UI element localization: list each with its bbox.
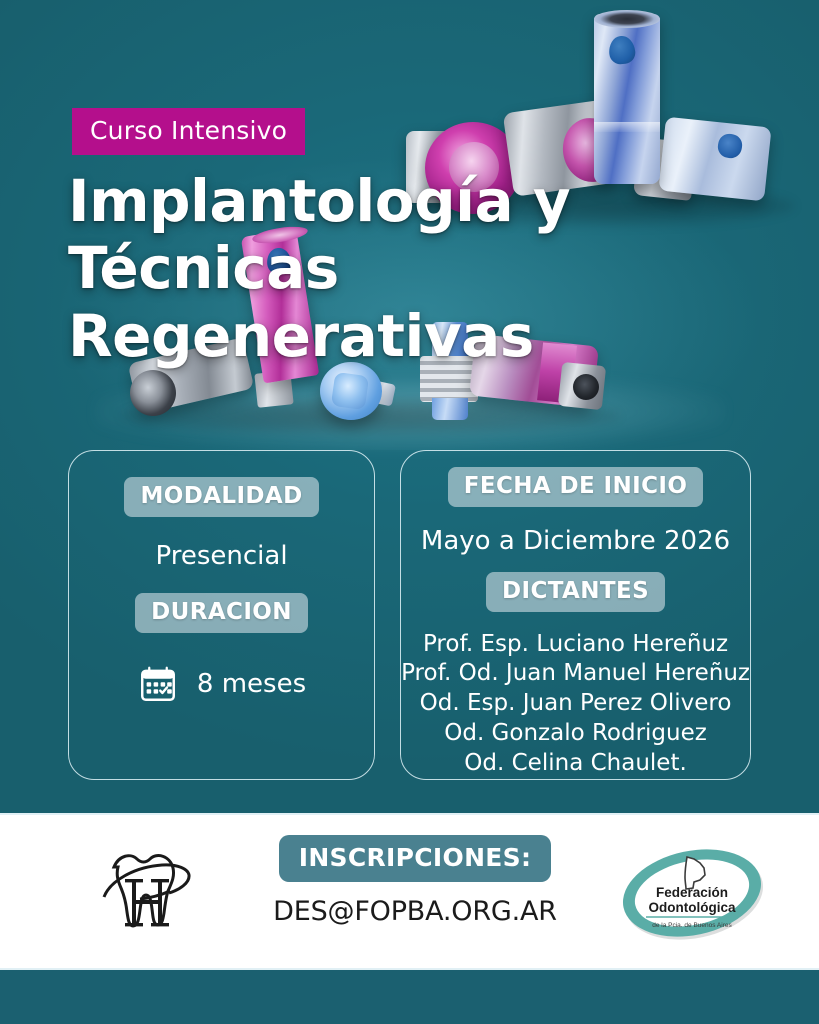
fopba-logo: Federación Odontológica de la Pcia. de B… (608, 845, 780, 943)
speaker-item: Od. Esp. Juan Perez Olivero (401, 689, 750, 719)
info-cards: MODALIDAD Presencial DURACION (68, 450, 751, 780)
implant-magenta-cylinder-bore (573, 374, 599, 400)
registration-label: INSCRIPCIONES: (279, 835, 552, 882)
tooth-h-logo (92, 841, 196, 945)
implant-blue-post-hex (608, 35, 637, 66)
fopba-line2: Odontológica (649, 900, 736, 915)
speaker-item: Od. Gonzalo Rodriguez (401, 719, 750, 749)
modality-label: MODALIDAD (124, 477, 318, 517)
implant-blue-screw-hex (331, 372, 369, 410)
card-modality-duration: MODALIDAD Presencial DURACION (68, 450, 375, 780)
bottom-band (0, 970, 819, 1024)
speaker-item: Od. Celina Chaulet. (401, 749, 750, 779)
card-start-speakers: FECHA DE INICIO Mayo a Diciembre 2026 DI… (400, 450, 751, 780)
calendar-icon (137, 663, 179, 705)
kicker-badge: Curso Intensivo (72, 108, 305, 155)
duration-label: DURACION (135, 593, 308, 633)
duration-value: 8 meses (197, 669, 306, 699)
implant-blue-screw-head (320, 362, 382, 420)
implant-magenta-post-base (254, 370, 293, 408)
speaker-item: Prof. Esp. Luciano Hereñuz (401, 630, 750, 660)
fopba-line1: Federación (656, 885, 728, 900)
registration-block: INSCRIPCIONES: DES@FOPBA.ORG.AR (265, 835, 565, 927)
implant-chrome-face (125, 365, 180, 420)
modality-value: Presencial (156, 541, 288, 571)
duration-row: 8 meses (137, 663, 306, 705)
implant-blue-post-collar (594, 122, 660, 132)
registration-email[interactable]: DES@FOPBA.ORG.AR (265, 896, 565, 927)
footer-top-hairline (0, 813, 819, 815)
speakers-label: DICTANTES (486, 572, 665, 612)
start-date-label: FECHA DE INICIO (448, 467, 704, 507)
implant-blue-post-opening (594, 10, 660, 28)
page-title: Implantología y Técnicas Regenerativas (68, 168, 768, 370)
fopba-line3: de la Pcia. de Buenos Aires (652, 922, 732, 929)
speakers-list: Prof. Esp. Luciano Hereñuz Prof. Od. Jua… (401, 630, 750, 779)
implant-shadow-bottom (120, 398, 620, 434)
start-date-value: Mayo a Diciembre 2026 (421, 526, 730, 556)
floor-glow (95, 380, 725, 450)
footer: INSCRIPCIONES: DES@FOPBA.ORG.AR Federaci… (0, 813, 819, 970)
speaker-item: Prof. Od. Juan Manuel Hereñuz (401, 659, 750, 689)
implant-blue-post-tall (594, 14, 660, 184)
implant-blue-screw-tail (366, 380, 396, 407)
implant-blue-right-hex (716, 132, 744, 160)
poster-root: Curso Intensivo Implantología y Técnicas… (0, 0, 819, 1024)
implant-stack-blue-foot (432, 398, 468, 420)
